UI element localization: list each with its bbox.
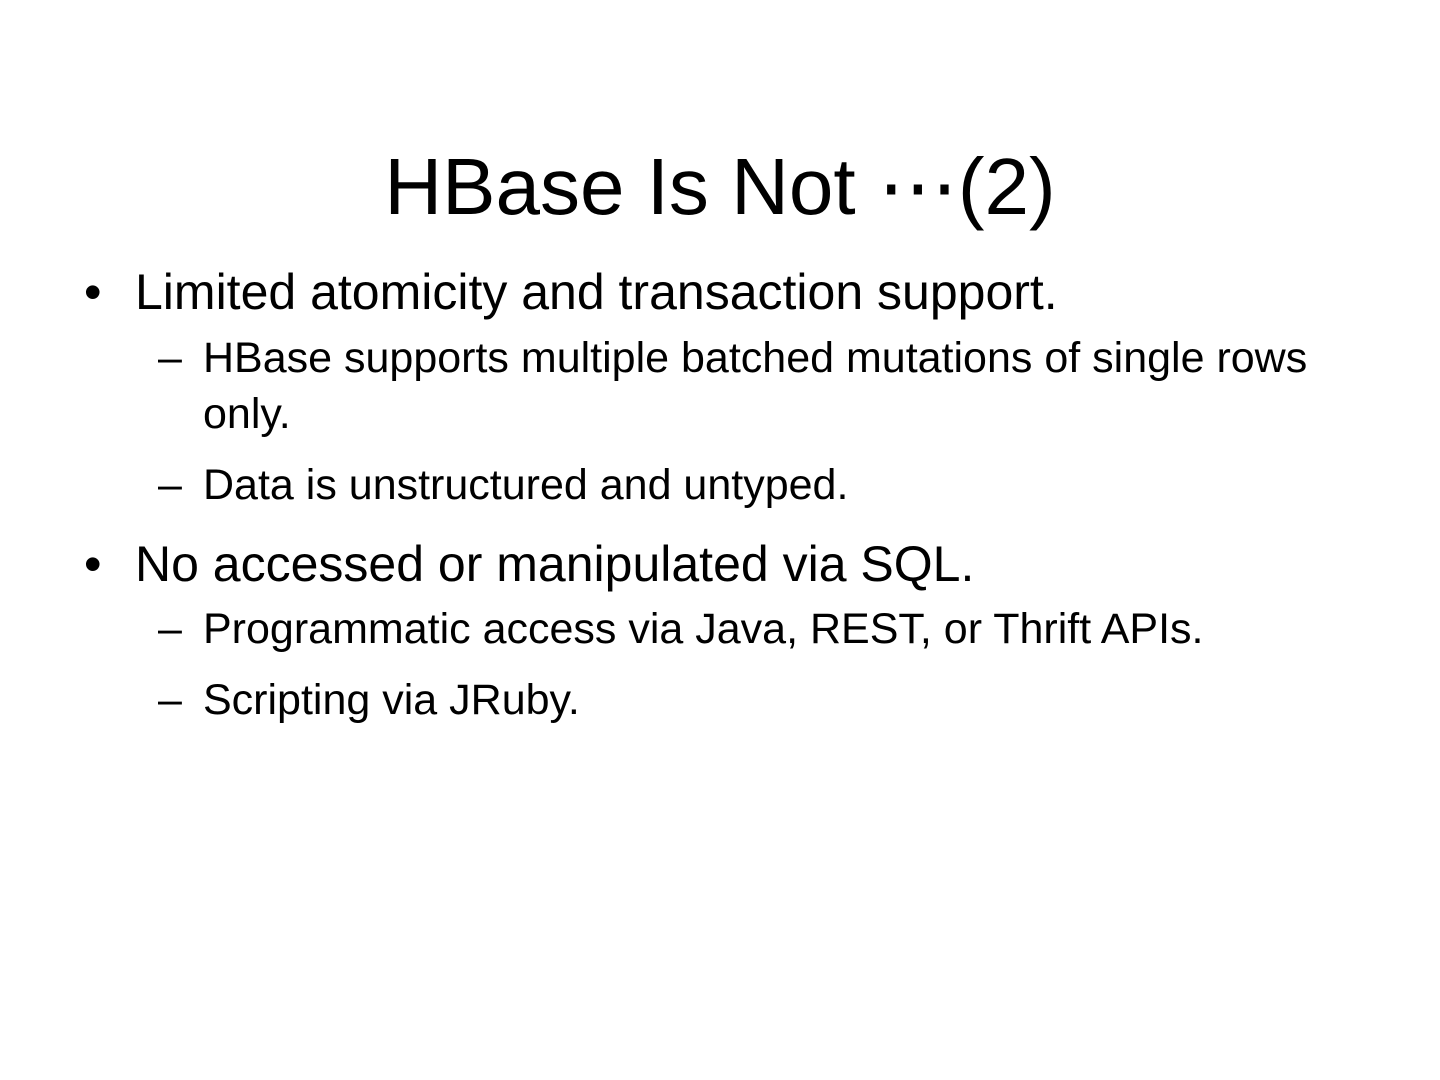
- spacer: [82, 518, 1372, 534]
- slide: HBase Is Not ⋯(2) • Limited atomicity an…: [0, 0, 1440, 1080]
- list-item-label: Programmatic access via Java, REST, or T…: [203, 601, 1368, 658]
- list-item: – HBase supports multiple batched mutati…: [82, 330, 1372, 444]
- bullet-dash-icon: –: [158, 672, 182, 729]
- list-item-label: Limited atomicity and transaction suppor…: [135, 262, 1372, 324]
- bullet-dot-icon: •: [84, 262, 102, 324]
- bullet-dash-icon: –: [158, 457, 182, 514]
- list-item: • No accessed or manipulated via SQL.: [82, 534, 1372, 596]
- bullet-dash-icon: –: [158, 330, 182, 387]
- spacer: [82, 662, 1372, 672]
- spacer: [82, 447, 1372, 457]
- list-item-label: Data is unstructured and untyped.: [203, 457, 1368, 514]
- list-item: – Data is unstructured and untyped.: [82, 457, 1372, 514]
- page-title: HBase Is Not ⋯(2): [0, 144, 1440, 230]
- slide-body: • Limited atomicity and transaction supp…: [82, 262, 1372, 733]
- list-item: – Scripting via JRuby.: [82, 672, 1372, 729]
- list-item: • Limited atomicity and transaction supp…: [82, 262, 1372, 324]
- bullet-dash-icon: –: [158, 601, 182, 658]
- bullet-dot-icon: •: [84, 534, 102, 596]
- list-item-label: Scripting via JRuby.: [203, 672, 1368, 729]
- list-item-label: HBase supports multiple batched mutation…: [203, 330, 1368, 444]
- list-item-label: No accessed or manipulated via SQL.: [135, 534, 1372, 596]
- list-item: – Programmatic access via Java, REST, or…: [82, 601, 1372, 658]
